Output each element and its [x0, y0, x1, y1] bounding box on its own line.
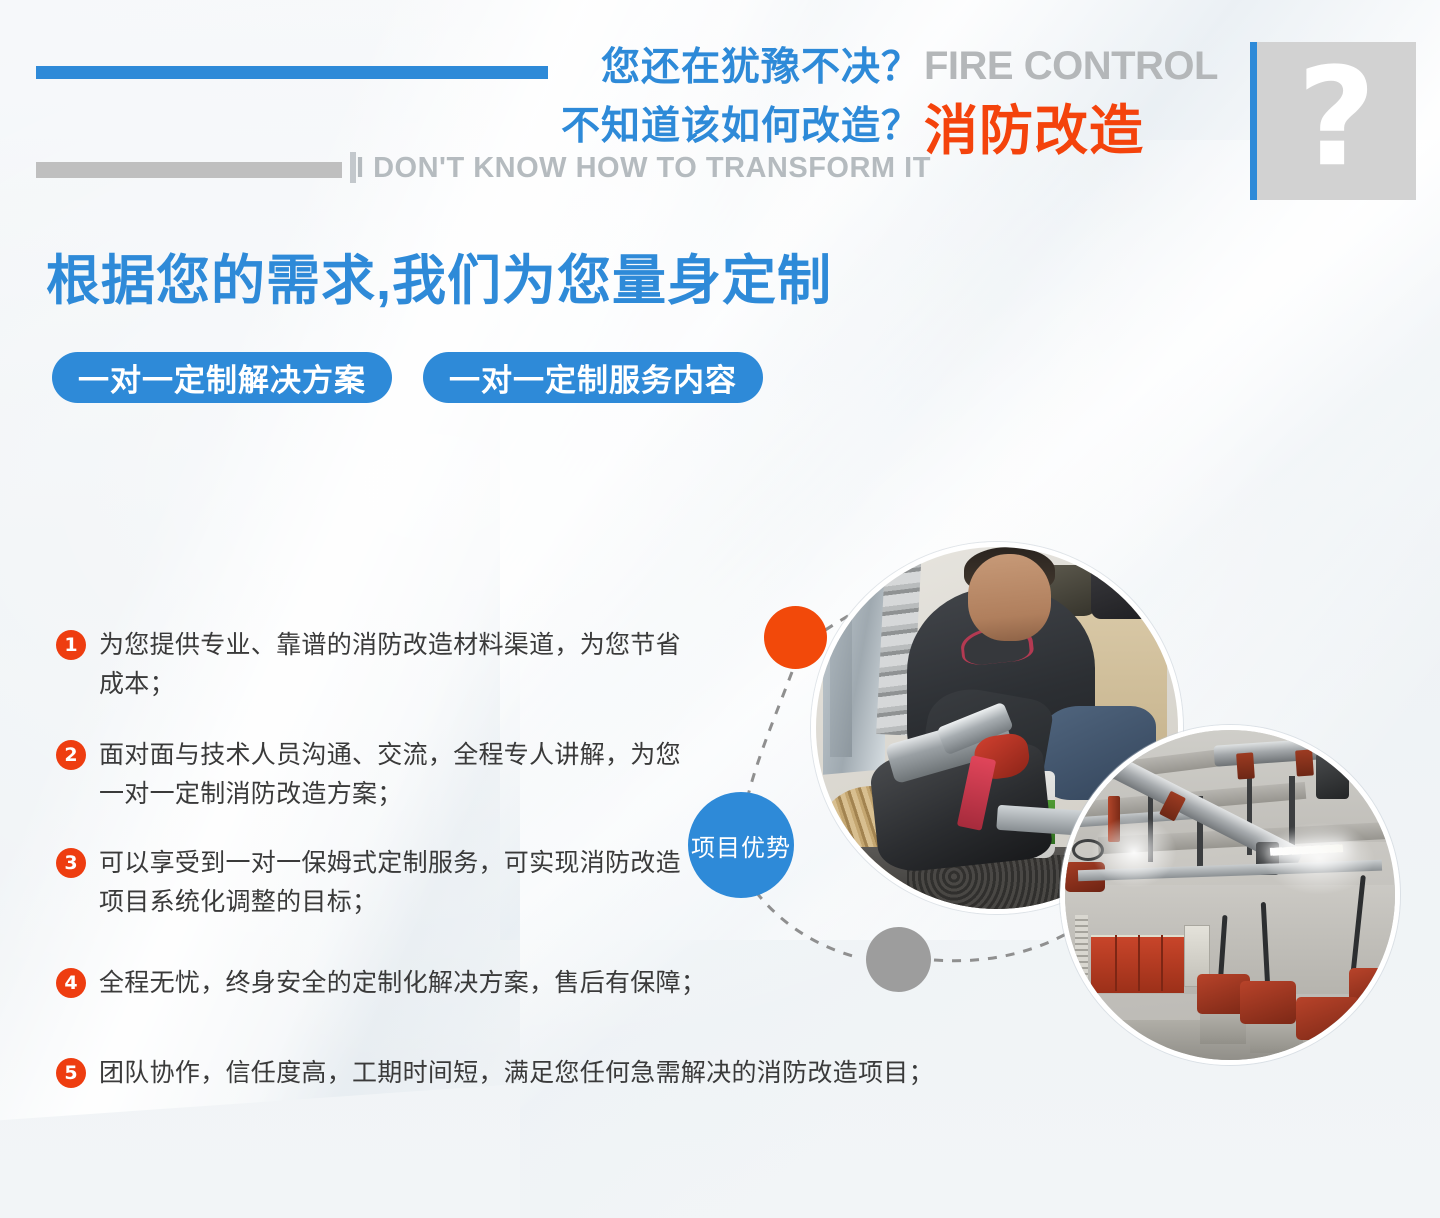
list-item-text: 为您提供专业、靠谱的消防改造材料渠道，为您节省成本； [99, 626, 696, 704]
header-gray-rule [36, 162, 342, 178]
promo-page: 您还在犹豫不决？ 不知道该如何改造？ I DON'T KNOW HOW TO T… [0, 0, 1440, 1218]
list-item-number-badge: 1 [56, 630, 86, 660]
question-mark-panel: ? [1250, 42, 1416, 200]
project-advantage-badge: 项目优势 [688, 792, 794, 898]
header-english-subtitle: I DON'T KNOW HOW TO TRANSFORM IT [356, 154, 931, 183]
page-title: 根据您的需求,我们为您量身定制 [46, 252, 832, 311]
list-item-text: 全程无忧，终身安全的定制化解决方案，售后有保障； [99, 964, 706, 1003]
list-item-number-badge: 4 [56, 968, 86, 998]
list-item: 3 可以享受到一对一保姆式定制服务，可实现消防改造项目系统化调整的目标； [56, 844, 696, 922]
header-question-line-2: 不知道该如何改造？ [561, 107, 921, 146]
list-item-text: 可以享受到一对一保姆式定制服务，可实现消防改造项目系统化调整的目标； [99, 844, 696, 922]
list-item-number-badge: 5 [56, 1058, 86, 1088]
advantage-diagram: 项目优势 [660, 540, 1440, 1060]
list-item-text: 面对面与技术人员沟通、交流，全程专人讲解，为您一对一定制消防改造方案； [99, 736, 696, 814]
pump-room-photo-scene [1065, 730, 1395, 1060]
pill-custom-service[interactable]: 一对一定制服务内容 [423, 352, 763, 403]
brand-english-label: FIRE CONTROL [924, 46, 1218, 86]
list-item: 1 为您提供专业、靠谱的消防改造材料渠道，为您节省成本； [56, 626, 696, 704]
custom-service-pill-row: 一对一定制解决方案 一对一定制服务内容 [52, 352, 763, 403]
question-mark-icon: ? [1257, 50, 1416, 186]
gray-accent-dot [866, 927, 931, 992]
list-item-number-badge: 3 [56, 848, 86, 878]
fire-pump-room-photo [1060, 725, 1400, 1065]
pill-custom-solution[interactable]: 一对一定制解决方案 [52, 352, 392, 403]
brand-chinese-label: 消防改造 [924, 104, 1144, 158]
header-question-line-1: 您还在犹豫不决？ [601, 48, 921, 87]
list-item-number-badge: 2 [56, 740, 86, 770]
list-item: 2 面对面与技术人员沟通、交流，全程专人讲解，为您一对一定制消防改造方案； [56, 736, 696, 814]
header-blue-rule [36, 66, 548, 79]
